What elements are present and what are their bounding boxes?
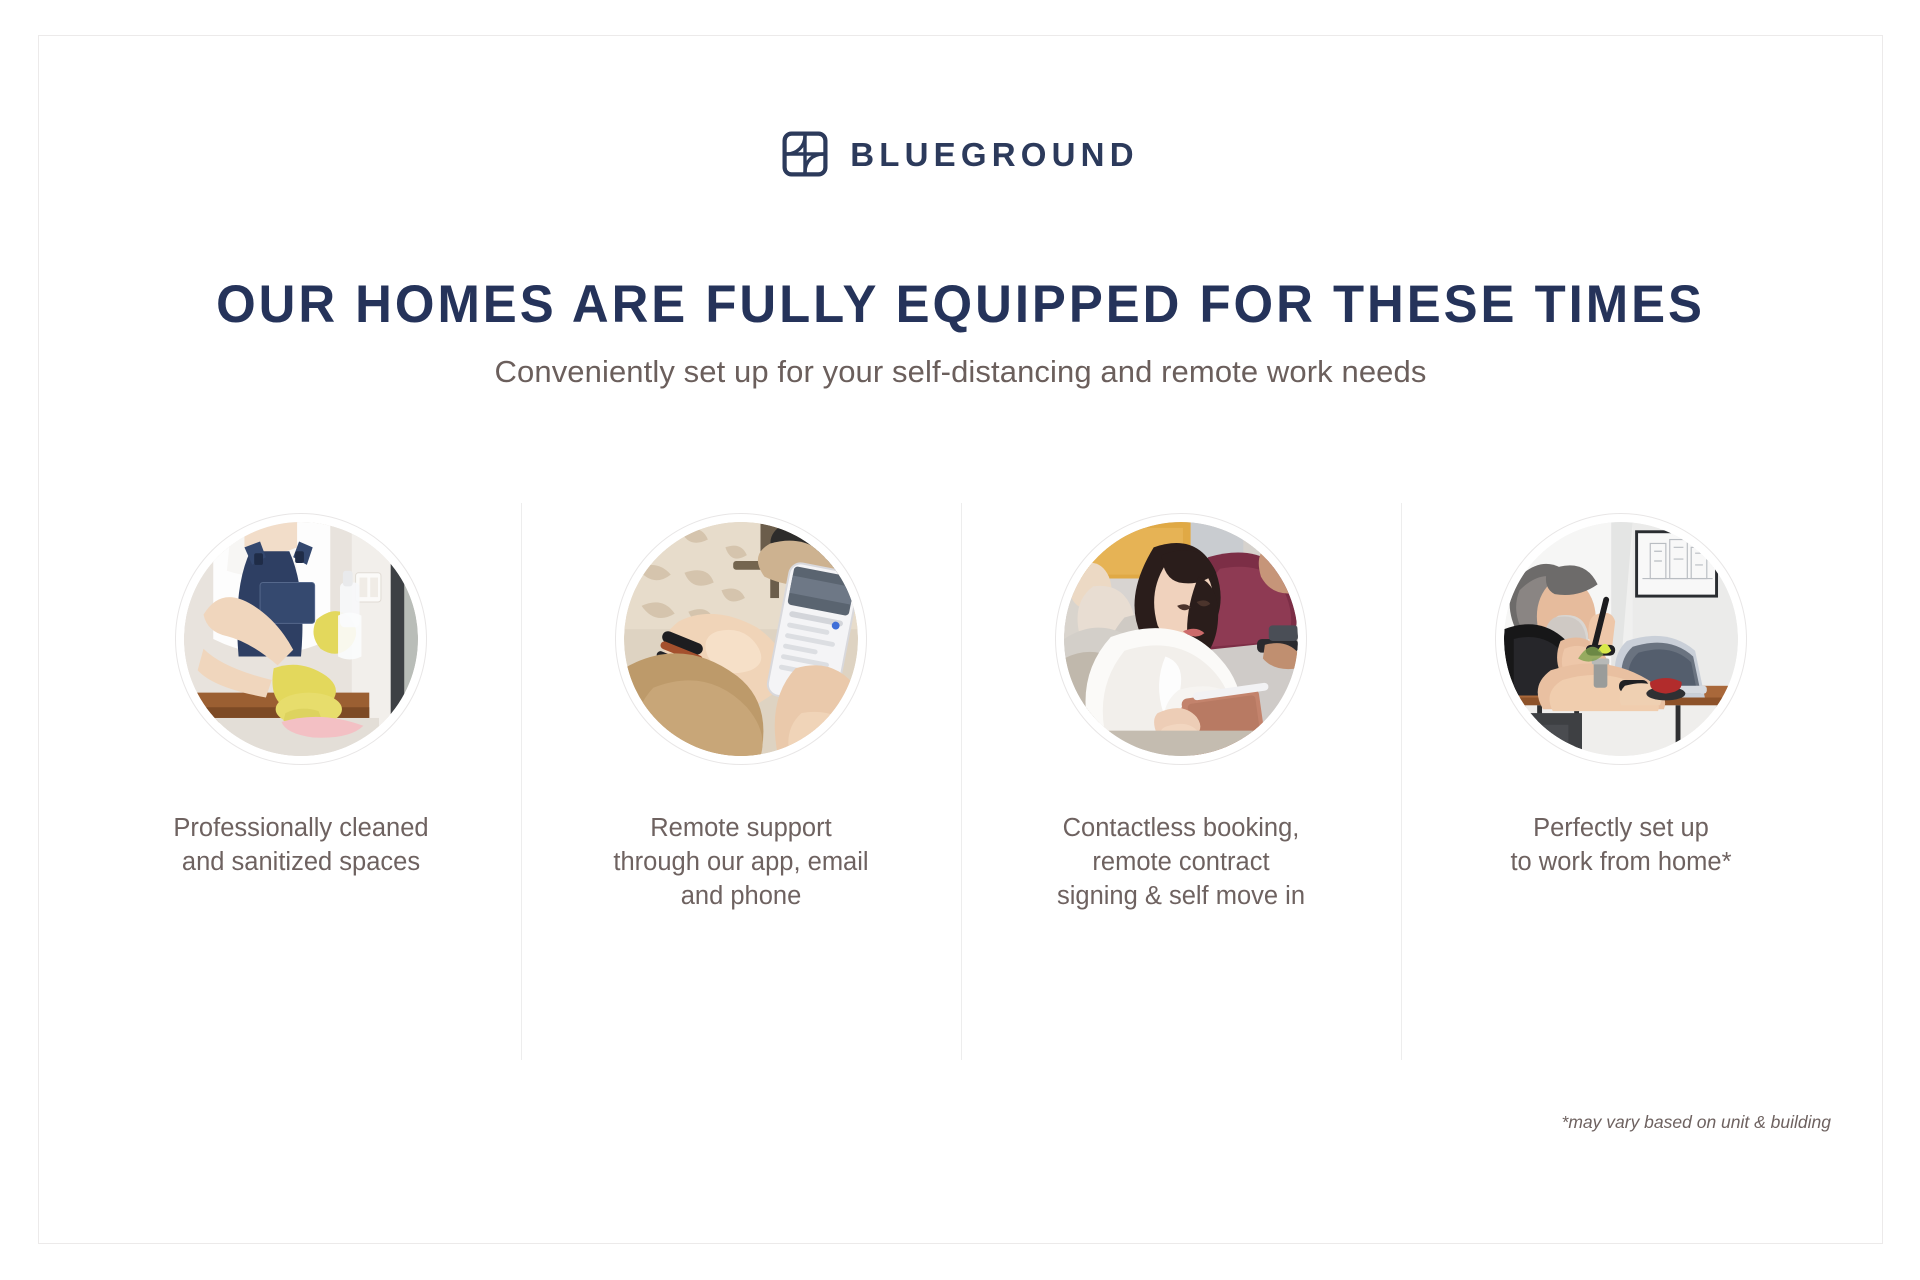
feature-image-ring [615, 513, 867, 765]
brand-name: BLUEGROUND [850, 138, 1139, 171]
feature-image-ring [175, 513, 427, 765]
phone-app-photo [624, 522, 858, 756]
tablet-in-bed-photo [1064, 522, 1298, 756]
feature-card-remote-support: Remote support through our app, email an… [521, 476, 961, 1101]
feature-card-work-from-home: Perfectly set up to work from home* [1401, 476, 1841, 1101]
poster-frame: BLUEGROUND OUR HOMES ARE FULLY EQUIPPED … [38, 35, 1883, 1244]
feature-card-cleaning: Professionally cleaned and sanitized spa… [81, 476, 521, 1101]
feature-image-ring [1055, 513, 1307, 765]
footnote-disclaimer: *may vary based on unit & building [1562, 1112, 1831, 1133]
feature-card-caption: Contactless booking, remote contract sig… [1057, 812, 1305, 914]
feature-card-caption: Professionally cleaned and sanitized spa… [173, 812, 428, 880]
page-title: OUR HOMES ARE FULLY EQUIPPED FOR THESE T… [76, 274, 1845, 335]
blueground-square-logo-icon [782, 131, 828, 177]
brand-logo: BLUEGROUND [39, 131, 1882, 177]
feature-card-caption: Perfectly set up to work from home* [1510, 812, 1731, 880]
page-subtitle: Conveniently set up for your self-distan… [39, 354, 1882, 390]
feature-card-contactless-booking: Contactless booking, remote contract sig… [961, 476, 1401, 1101]
feature-image-ring [1495, 513, 1747, 765]
feature-card-list: Professionally cleaned and sanitized spa… [81, 476, 1841, 1101]
work-from-home-photo [1504, 522, 1738, 756]
feature-card-caption: Remote support through our app, email an… [613, 812, 868, 914]
cleaning-photo [184, 522, 418, 756]
